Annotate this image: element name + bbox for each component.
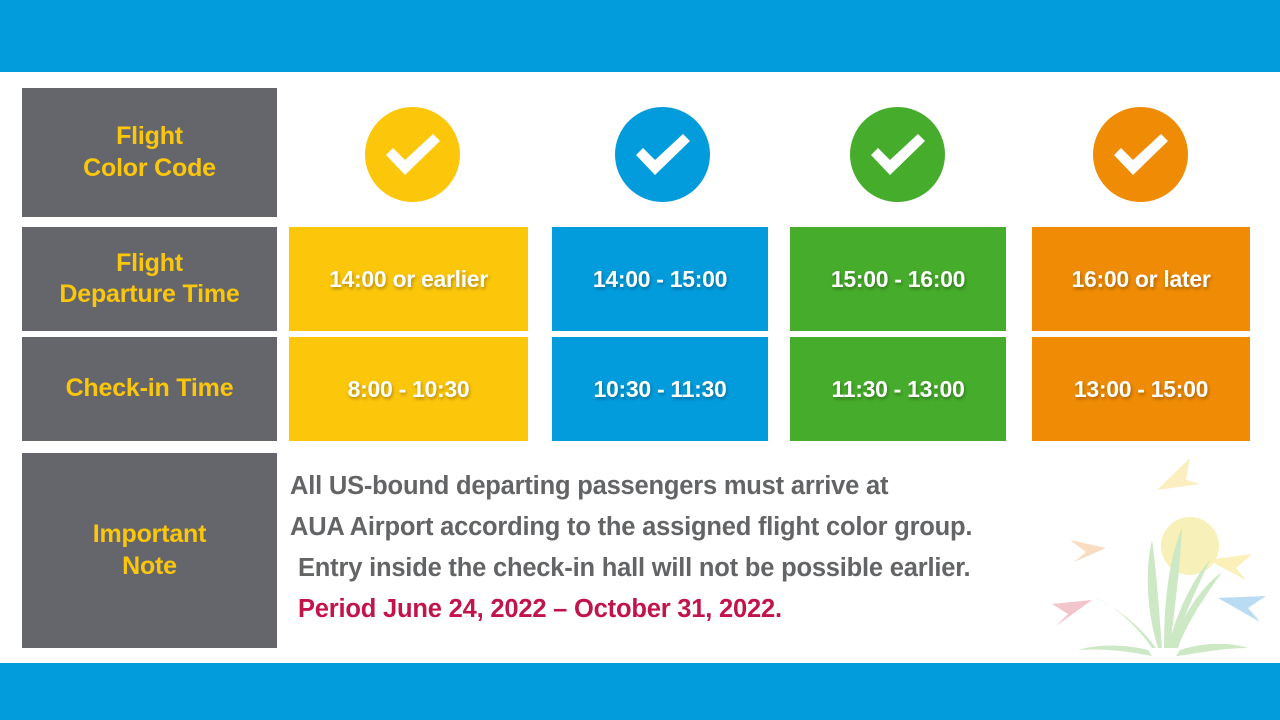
checkin-time-cell-green: 11:30 - 13:00	[790, 337, 1006, 441]
check-circle-icon-yellow	[365, 107, 460, 202]
checkin-time-cell-orange: 13:00 - 15:00	[1032, 337, 1250, 441]
departure-time-cell-orange: 16:00 or later	[1032, 227, 1250, 331]
label-check-in-time: Check-in Time	[22, 337, 277, 441]
note-line-1: All US-bound departing passengers must a…	[290, 466, 1250, 507]
bottom-brand-bar	[0, 663, 1280, 720]
checkin-time-text-yellow: 8:00 - 10:30	[348, 376, 470, 403]
checkin-time-text-orange: 13:00 - 15:00	[1074, 376, 1208, 403]
label-flight-departure-time-line2: Departure Time	[59, 280, 239, 308]
check-circle-icon-green	[850, 107, 945, 202]
label-important-note-line1: Important	[93, 520, 206, 548]
checkin-time-text-blue: 10:30 - 11:30	[594, 376, 727, 403]
top-brand-bar	[0, 0, 1280, 72]
flight-color-code-infographic: Flight Color Code Flight Departure Time …	[0, 0, 1280, 720]
important-note-text: All US-bound departing passengers must a…	[290, 466, 1250, 641]
departure-time-cell-green: 15:00 - 16:00	[790, 227, 1006, 331]
check-circle-icon-orange	[1093, 107, 1188, 202]
label-important-note: Important Note	[22, 453, 277, 648]
checkin-time-cell-blue: 10:30 - 11:30	[552, 337, 768, 441]
note-line-2: AUA Airport according to the assigned fl…	[290, 507, 1250, 548]
label-check-in-time-text: Check-in Time	[66, 373, 234, 404]
check-circle-icon-blue	[615, 107, 710, 202]
checkin-time-text-green: 11:30 - 13:00	[832, 376, 965, 403]
label-flight-departure-time-line1: Flight	[116, 249, 183, 277]
departure-time-text-yellow: 14:00 or earlier	[329, 266, 488, 293]
departure-time-text-blue: 14:00 - 15:00	[593, 266, 727, 293]
departure-time-cell-blue: 14:00 - 15:00	[552, 227, 768, 331]
checkin-time-cell-yellow: 8:00 - 10:30	[289, 337, 528, 441]
departure-time-text-green: 15:00 - 16:00	[831, 266, 965, 293]
note-line-3: Entry inside the check-in hall will not …	[290, 548, 1250, 589]
label-flight-departure-time: Flight Departure Time	[22, 227, 277, 331]
departure-time-cell-yellow: 14:00 or earlier	[289, 227, 528, 331]
note-line-period: Period June 24, 2022 – October 31, 2022.	[290, 589, 1250, 630]
color-code-icon-row	[0, 88, 1280, 217]
departure-time-text-orange: 16:00 or later	[1072, 266, 1211, 293]
label-important-note-line2: Note	[122, 552, 177, 580]
